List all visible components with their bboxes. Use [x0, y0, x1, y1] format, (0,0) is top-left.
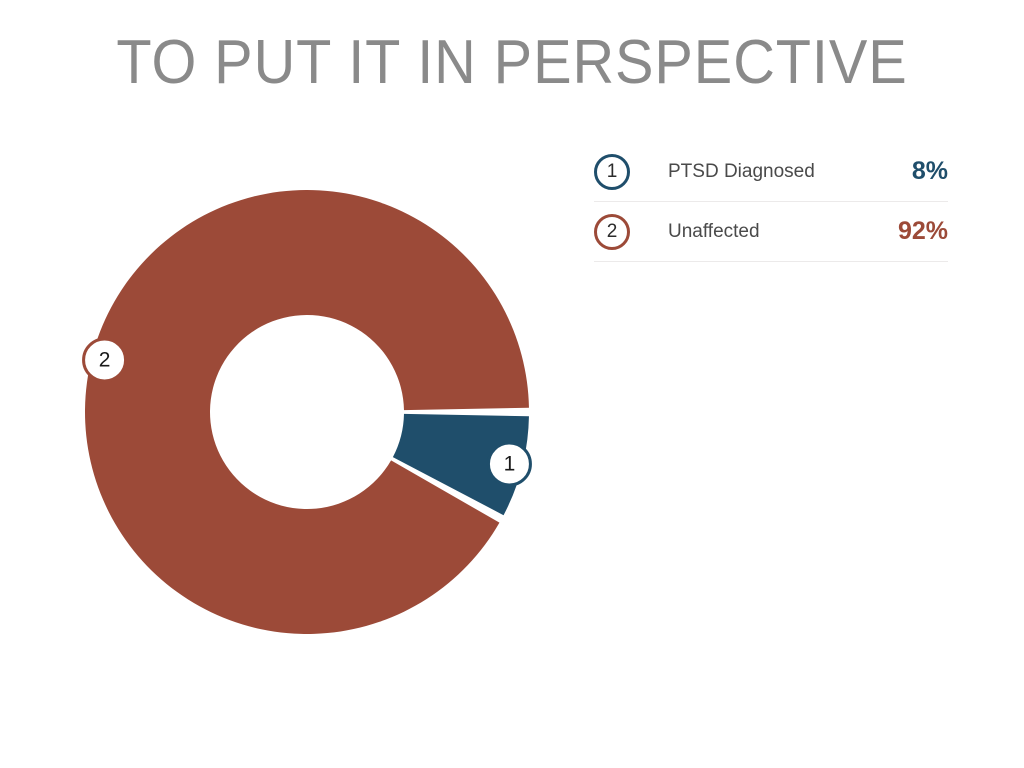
donut-marker-1[interactable]: 1 — [488, 443, 530, 485]
legend-value-ptsd-diagnosed: 8% — [912, 157, 948, 186]
chart-legend: 1 PTSD Diagnosed 8% 2 Unaffected 92% — [594, 142, 948, 262]
donut-marker-1-label: 1 — [504, 452, 516, 475]
donut-marker-2-label: 2 — [99, 349, 111, 372]
legend-value-unaffected: 92% — [898, 217, 948, 246]
donut-marker-2[interactable]: 2 — [84, 339, 126, 381]
legend-label-ptsd-diagnosed: PTSD Diagnosed — [668, 161, 912, 183]
page-title: TO PUT IT IN PERSPECTIVE — [36, 28, 988, 98]
donut-slice-unaffected[interactable] — [85, 190, 529, 634]
donut-chart: 1 2 — [60, 165, 560, 665]
legend-row-ptsd-diagnosed[interactable]: 1 PTSD Diagnosed 8% — [594, 142, 948, 202]
legend-label-unaffected: Unaffected — [668, 221, 898, 243]
legend-marker-2: 2 — [594, 214, 630, 250]
donut-chart-svg: 1 2 — [60, 165, 560, 665]
legend-marker-1: 1 — [594, 154, 630, 190]
legend-row-unaffected[interactable]: 2 Unaffected 92% — [594, 202, 948, 262]
